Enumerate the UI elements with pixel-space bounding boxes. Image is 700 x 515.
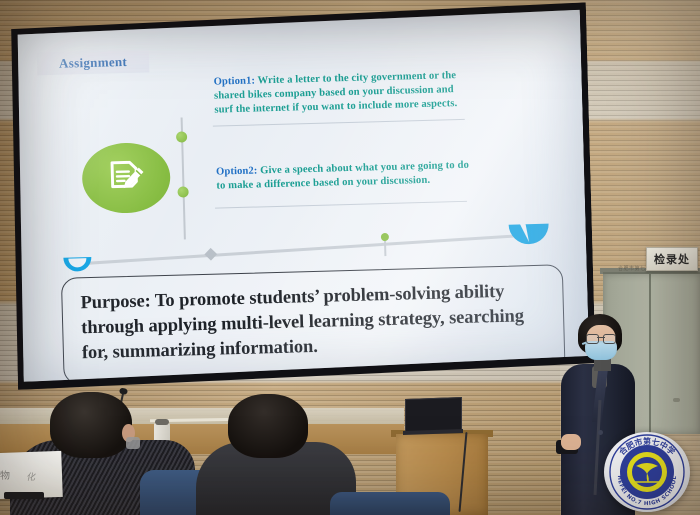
timeline-diamond-marker — [204, 248, 217, 261]
presenter-glasses-icon — [586, 334, 616, 342]
slide-title-banner: Assignment — [37, 49, 150, 75]
name-card-text-2: 化 — [26, 470, 35, 483]
connector-dot-2 — [177, 186, 188, 197]
classroom-photo: 合肥市第七中学标准化考场 检录处 Assignment — [0, 0, 700, 515]
presenter-coat-button — [598, 430, 603, 435]
timeline-right-halfdisc-icon — [506, 218, 551, 253]
presenter-hand — [561, 434, 581, 450]
option-2-text: Option2: Give a speech about what you ar… — [216, 159, 477, 194]
timeline-bar — [78, 234, 527, 266]
option-1-lead: Option1: — [213, 76, 255, 88]
door-handle[interactable] — [673, 398, 680, 402]
option-2-lead: Option2: — [216, 165, 258, 177]
timeline-left-semicircle-icon — [62, 248, 93, 279]
audience-2-head — [228, 394, 308, 458]
audience-1-mask-strap — [126, 437, 140, 449]
option-1-text: Option1: Write a letter to the city gove… — [213, 69, 474, 117]
check-in-sign-label: 检录处 — [654, 251, 690, 267]
chair-back-2 — [330, 492, 450, 515]
option-2-underline — [215, 201, 467, 209]
name-card-holder — [4, 492, 44, 499]
check-in-sign: 检录处 — [646, 247, 698, 271]
purpose-text: Purpose: To promote students’ problem-so… — [62, 265, 564, 367]
document-pencil-icon — [81, 142, 171, 214]
audience-1-head — [50, 392, 132, 458]
connector-dot-1 — [176, 131, 187, 142]
name-card-text-1: 物 — [0, 467, 10, 482]
timeline-green-marker — [381, 233, 389, 241]
slide-canvas: Assignment Option1: Write a letter to th… — [14, 9, 589, 382]
option-1-underline — [213, 119, 465, 127]
presentation-display[interactable]: Assignment Option1: Write a letter to th… — [14, 9, 589, 382]
school-logo-watermark: 合肥市第七中学 HEFEI NO.7 HIGH SCHOOL — [604, 432, 690, 512]
slide-title: Assignment — [59, 53, 127, 71]
